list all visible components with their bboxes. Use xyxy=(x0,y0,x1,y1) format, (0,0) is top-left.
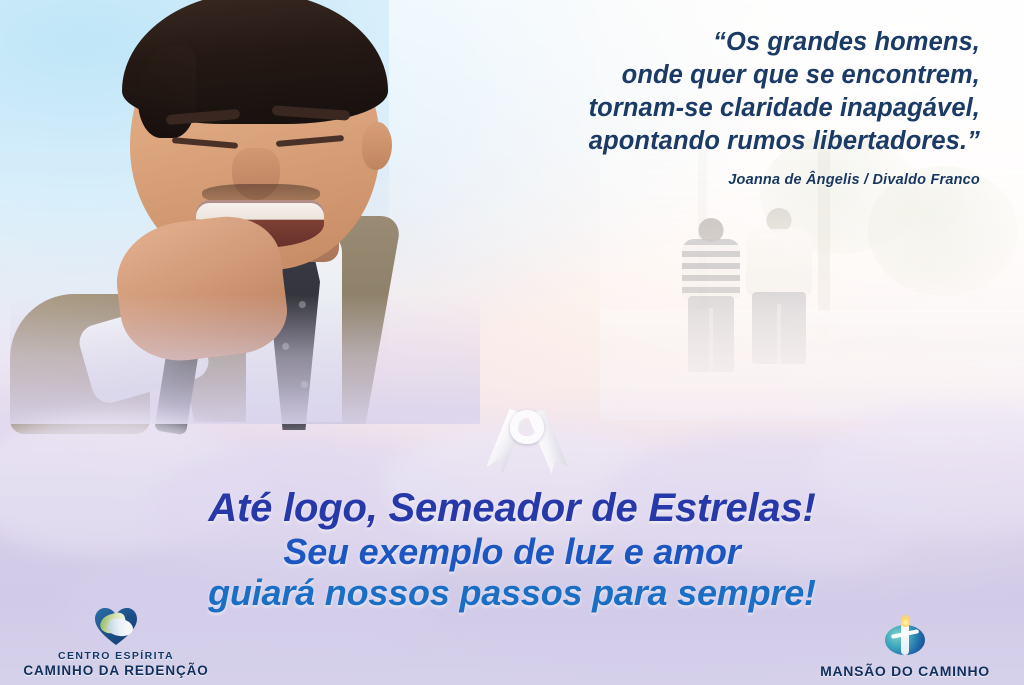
headline-block: Até logo, Semeador de Estrelas! Seu exem… xyxy=(0,486,1024,613)
logo-left-line-2: CAMINHO DA REDENÇÃO xyxy=(8,663,224,679)
headline-line-1: Até logo, Semeador de Estrelas! xyxy=(0,486,1024,531)
torch-flame xyxy=(901,614,910,627)
quote-line-1: “Os grandes homens, xyxy=(360,26,980,59)
ribbon-loop xyxy=(510,410,544,444)
portrait-cloud-blend xyxy=(10,294,480,424)
quote-author: Joanna de Ângelis / Divaldo Franco xyxy=(360,172,980,188)
headline-line-2: Seu exemplo de luz e amor xyxy=(0,531,1024,572)
quote-line-2: onde quer que se encontrem, xyxy=(360,59,980,92)
logo-centro-espirita-caminho-da-redencao: CENTRO ESPÍRITA CAMINHO DA REDENÇÃO xyxy=(8,608,224,679)
quote-line-3: tornam-se claridade inapagável, xyxy=(360,92,980,125)
logo-right-line-2: MANSÃO DO CAMINHO xyxy=(792,663,1018,679)
globe-torch-figure-icon xyxy=(885,617,925,659)
heart-hands-icon xyxy=(95,608,137,646)
figure-shape xyxy=(901,623,909,655)
scene-fade-overlay xyxy=(600,150,1024,420)
headline-line-3: guiará nossos passos para sempre! xyxy=(0,572,1024,613)
portrait-hair xyxy=(122,0,388,124)
logo-left-line-1: CENTRO ESPÍRITA xyxy=(8,650,224,663)
quote-text: “Os grandes homens, onde quer que se enc… xyxy=(360,26,980,158)
quote-line-4: apontando rumos libertadores.” xyxy=(360,125,980,158)
memorial-poster: “Os grandes homens, onde quer que se enc… xyxy=(0,0,1024,685)
background-scene-photo xyxy=(600,150,1024,420)
white-mourning-ribbon-icon xyxy=(487,412,565,490)
logo-mansao-do-caminho: MANSÃO DO CAMINHO xyxy=(792,617,1018,679)
